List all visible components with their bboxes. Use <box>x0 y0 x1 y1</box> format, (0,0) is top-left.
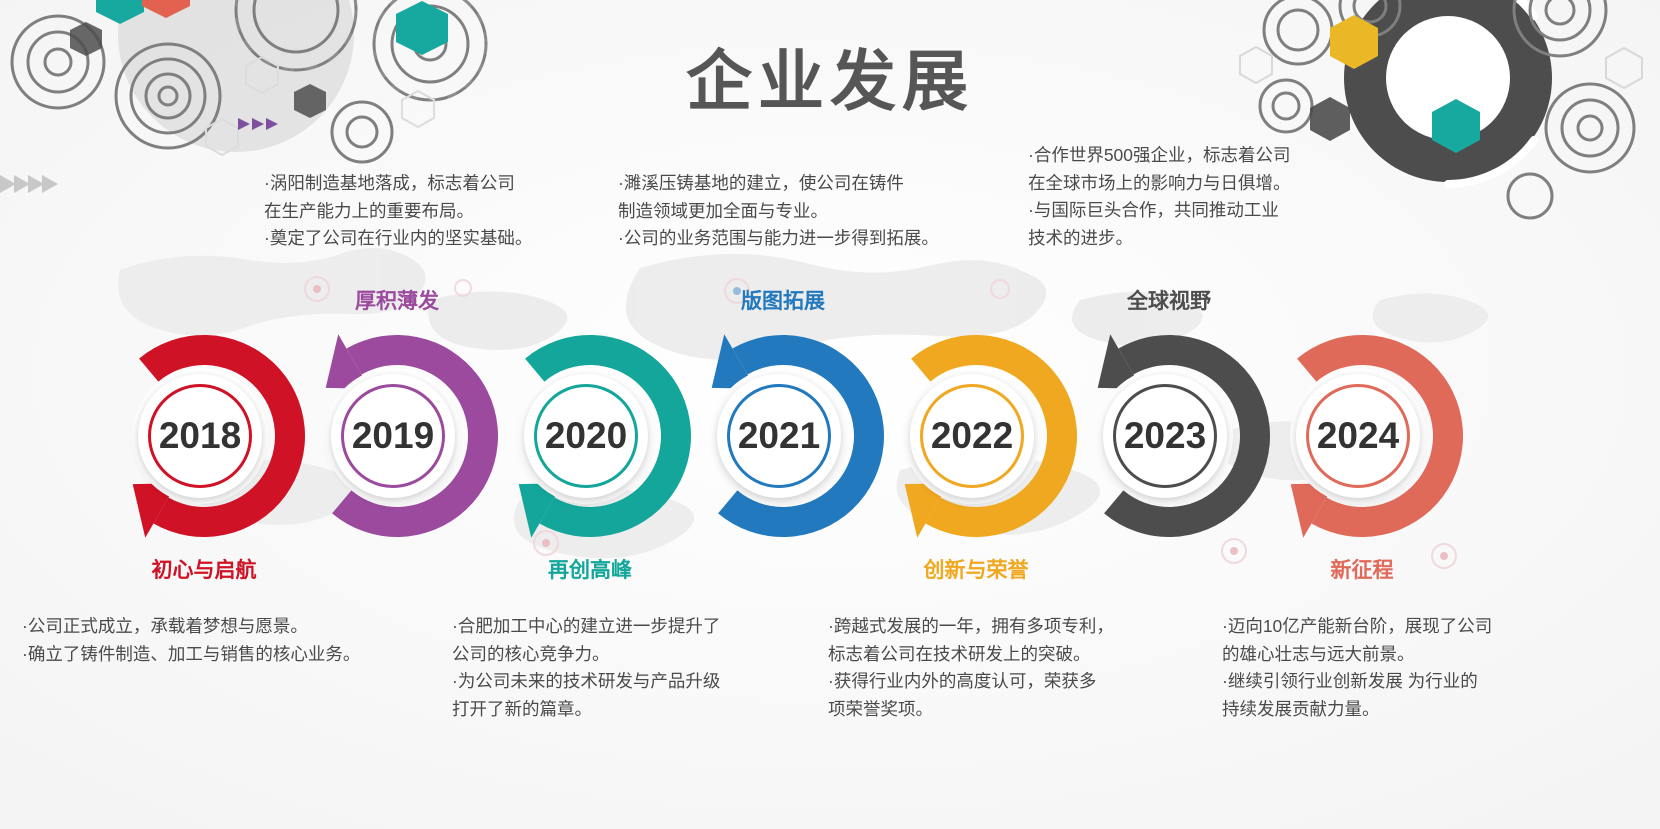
year-disc-2020[interactable]: 2020 <box>524 374 648 498</box>
year-disc-2024[interactable]: 2024 <box>1296 374 1420 498</box>
timeline-node-2024[interactable]: 2024 <box>1250 318 1474 554</box>
year-label-2019: 2019 <box>352 415 434 457</box>
stage-label-2022: 创新与荣誉 <box>924 554 1029 584</box>
year-disc-2023[interactable]: 2023 <box>1103 374 1227 498</box>
year-label-2023: 2023 <box>1124 415 1206 457</box>
timeline-node-2020[interactable]: 2020 <box>478 318 702 554</box>
description-2023-top: ·合作世界500强企业，标志着公司 在全球市场上的影响力与日俱增。 ·与国际巨头… <box>1028 142 1348 253</box>
year-disc-2018[interactable]: 2018 <box>138 374 262 498</box>
year-label-2020: 2020 <box>545 415 627 457</box>
timeline-node-2022[interactable]: 2022 <box>864 318 1088 554</box>
timeline-node-2018[interactable]: 2018 <box>92 318 316 554</box>
year-disc-2022[interactable]: 2022 <box>910 374 1034 498</box>
year-disc-2019[interactable]: 2019 <box>331 374 455 498</box>
timeline-node-2019[interactable]: 2019 <box>285 318 509 554</box>
stage-label-2021: 版图拓展 <box>741 285 825 315</box>
description-2019-top: ·濉溪压铸基地的建立，使公司在铸件 制造领域更加全面与专业。 ·公司的业务范围与… <box>618 170 978 253</box>
stage-label-2023: 全球视野 <box>1127 285 1211 315</box>
year-label-2024: 2024 <box>1317 415 1399 457</box>
description-2018-bottom: ·公司正式成立，承载着梦想与愿景。 ·确立了铸件制造、加工与销售的核心业务。 <box>22 613 442 668</box>
stage-label-2019: 厚积薄发 <box>355 285 439 315</box>
year-label-2018: 2018 <box>159 415 241 457</box>
page-title: 企业发展 <box>0 28 1660 124</box>
year-disc-2021[interactable]: 2021 <box>717 374 841 498</box>
year-label-2021: 2021 <box>738 415 820 457</box>
slide-canvas: 企业发展 ·涡阳制造基地落成，标志着公司 在生产能力上的重要布局。 ·奠定了公司… <box>0 0 1660 829</box>
description-2018-top: ·涡阳制造基地落成，标志着公司 在生产能力上的重要布局。 ·奠定了公司在行业内的… <box>264 170 564 253</box>
stage-label-2020: 再创高峰 <box>548 554 632 584</box>
stage-label-2018: 初心与启航 <box>152 554 257 584</box>
description-2022-bottom: ·跨越式发展的一年，拥有多项专利， 标志着公司在技术研发上的突破。 ·获得行业内… <box>828 613 1178 724</box>
description-2024-bottom: ·迈向10亿产能新台阶，展现了公司 的雄心壮志与远大前景。 ·继续引领行业创新发… <box>1222 613 1562 724</box>
year-label-2022: 2022 <box>931 415 1013 457</box>
timeline-node-2021[interactable]: 2021 <box>671 318 895 554</box>
stage-label-2024: 新征程 <box>1331 554 1394 584</box>
timeline-node-2023[interactable]: 2023 <box>1057 318 1281 554</box>
timeline: 2018201920202021202220232024 <box>0 318 1660 578</box>
description-2020-bottom: ·合肥加工中心的建立进一步提升了 公司的核心竞争力。 ·为公司未来的技术研发与产… <box>452 613 782 724</box>
